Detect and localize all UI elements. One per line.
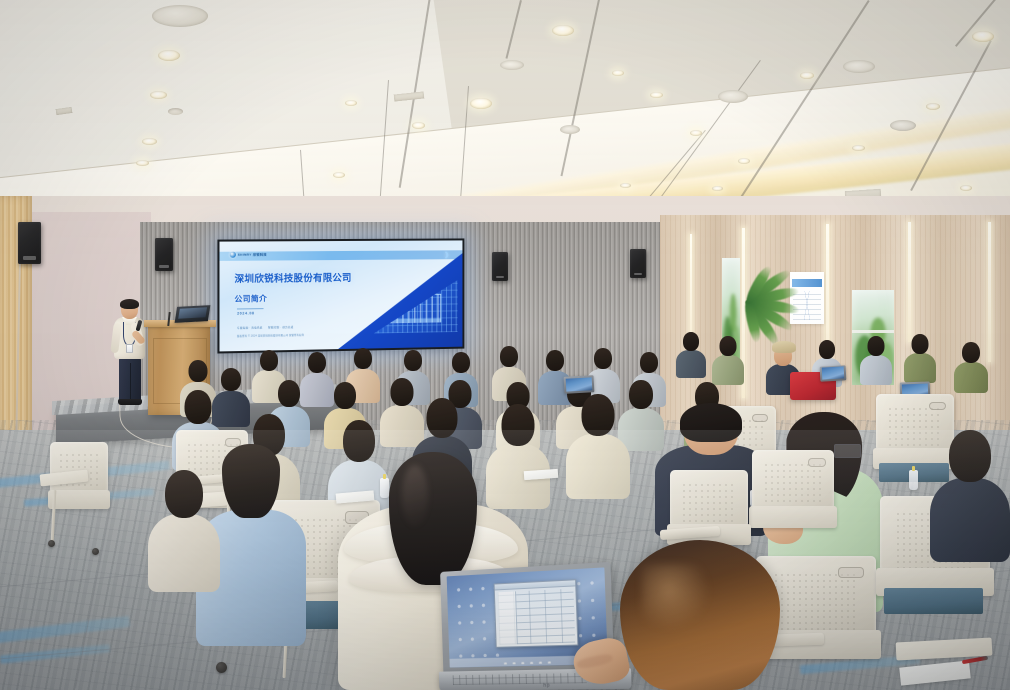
ceiling-downlight xyxy=(690,130,702,136)
presenter xyxy=(110,300,150,405)
ceiling-speaker xyxy=(890,120,916,131)
ceiling-speaker xyxy=(843,60,875,73)
ceiling-speaker xyxy=(718,90,748,103)
laptop-screen xyxy=(566,377,592,392)
ceiling-downlight xyxy=(470,98,492,109)
person-head xyxy=(683,332,699,351)
ceiling-downlight xyxy=(412,122,425,129)
slide-date: 2024.08 xyxy=(237,311,255,315)
wall-light-strip xyxy=(908,222,911,342)
person-head xyxy=(308,352,326,373)
audience-person xyxy=(860,336,892,384)
person-body xyxy=(904,353,936,383)
bucket-hat xyxy=(772,341,796,353)
ceiling-downlight xyxy=(345,100,357,106)
ceiling-downlight xyxy=(612,70,624,76)
presenter-legs xyxy=(119,357,141,401)
audience-laptop xyxy=(564,375,595,394)
slide-subheading: 公司简介 xyxy=(235,295,268,303)
audience-laptop xyxy=(820,365,847,381)
wall-speaker xyxy=(492,252,508,281)
window-frame xyxy=(852,330,894,333)
person-head xyxy=(962,342,980,363)
audience-person xyxy=(904,334,936,382)
wall-speaker xyxy=(630,249,646,278)
conference-room-photo: SHINRY 欣锐科技 》 深圳欣锐科技股份有限公司 公司简介 2024.08 … xyxy=(0,0,1010,690)
person-head xyxy=(819,340,835,359)
company-logo-icon xyxy=(230,252,236,258)
laptop-screen xyxy=(822,367,845,380)
person-head xyxy=(868,336,885,356)
person-body xyxy=(860,355,892,385)
ceiling-speaker xyxy=(560,125,580,134)
person-head xyxy=(221,368,241,391)
ceiling-downlight xyxy=(960,185,972,191)
person-head xyxy=(404,350,422,371)
presenter-hair xyxy=(120,299,139,309)
ceiling-downlight xyxy=(972,31,994,42)
floor-shading xyxy=(0,430,1010,690)
projection-screen: SHINRY 欣锐科技 》 深圳欣锐科技股份有限公司 公司简介 2024.08 … xyxy=(217,238,464,353)
wall-light-strip xyxy=(988,222,991,362)
audience-person xyxy=(954,342,988,392)
poster-header-band xyxy=(792,279,822,286)
ceiling-downlight xyxy=(712,186,723,191)
person-head xyxy=(629,380,653,409)
person-head xyxy=(594,348,612,369)
chair-handle xyxy=(929,402,946,411)
person-head xyxy=(189,360,208,382)
audience-person xyxy=(712,336,744,384)
person-head xyxy=(391,378,414,406)
ceiling-downlight xyxy=(136,160,149,166)
person-head xyxy=(185,390,212,424)
ceiling-downlight xyxy=(738,158,750,164)
person-head xyxy=(334,382,356,409)
person-head xyxy=(452,352,470,373)
ceiling-downlight xyxy=(620,183,631,188)
ceiling-downlight-off xyxy=(168,108,183,115)
presenter-shoes xyxy=(118,399,142,405)
chevron-right-icon: 》 xyxy=(445,253,452,260)
ceiling-downlight xyxy=(926,103,940,110)
slide-logo-text: SHINRY 欣锐科技 xyxy=(238,253,267,256)
person-head xyxy=(912,334,929,354)
person-head xyxy=(640,352,658,373)
wall-speaker xyxy=(18,222,41,264)
slide-fine-print-1: 车载电源 · 充电系统 智能控制 · 动力总成 xyxy=(237,325,293,330)
person-body xyxy=(954,362,988,393)
person-head xyxy=(260,350,278,371)
ceiling-downlight xyxy=(852,145,865,151)
person-head xyxy=(546,350,564,371)
ceiling-downlight xyxy=(150,91,167,99)
ceiling-speaker xyxy=(500,60,524,70)
presenter-badge xyxy=(126,344,133,353)
person-head xyxy=(500,346,518,367)
ceiling-downlight xyxy=(158,50,180,61)
person-head xyxy=(720,336,737,356)
ceiling-downlight xyxy=(650,92,663,98)
ceiling-downlight xyxy=(552,25,574,36)
person-head xyxy=(278,380,300,407)
presentation-slide: SHINRY 欣锐科技 》 深圳欣锐科技股份有限公司 公司简介 2024.08 … xyxy=(219,240,462,351)
podium-laptop xyxy=(175,305,211,323)
slide-logo: SHINRY 欣锐科技 xyxy=(230,252,267,258)
slide-heading: 深圳欣锐科技股份有限公司 xyxy=(235,273,352,284)
person-body xyxy=(676,350,706,378)
wall-speaker xyxy=(155,238,173,271)
ceiling-speaker xyxy=(152,5,208,27)
person-head xyxy=(354,348,372,369)
slide-fine-print-2: 版权所有 © 2024 深圳欣锐科技股份有限公司 保留所有权利 xyxy=(237,332,304,337)
ceiling-downlight xyxy=(142,138,157,145)
audience-person xyxy=(676,332,706,376)
person-body xyxy=(712,355,744,385)
ceiling-downlight xyxy=(800,72,814,79)
ceiling-downlight xyxy=(333,172,345,178)
